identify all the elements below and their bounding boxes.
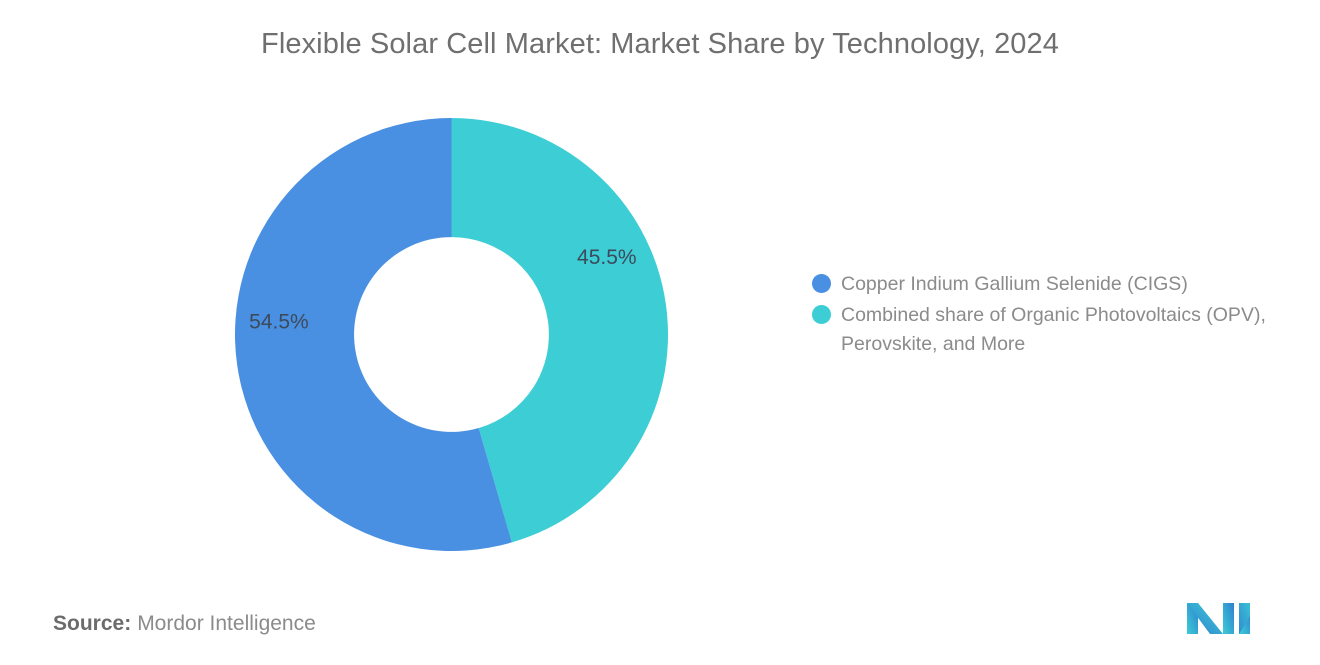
source-line: Source:Mordor Intelligence — [53, 612, 316, 636]
circle-swatch-icon — [812, 305, 831, 324]
donut-chart-svg: 54.5% 45.5% — [235, 118, 668, 551]
circle-swatch-icon — [812, 274, 831, 293]
slice-label-cigs: 54.5% — [249, 310, 309, 333]
page-title: Flexible Solar Cell Market: Market Share… — [0, 28, 1320, 61]
donut-chart: 54.5% 45.5% — [235, 118, 668, 551]
legend-item-opv-perovskite[interactable]: Combined share of Organic Photovoltaics … — [812, 301, 1282, 359]
source-label: Source: — [53, 612, 131, 635]
legend-item-label: Combined share of Organic Photovoltaics … — [841, 301, 1282, 359]
source-value: Mordor Intelligence — [137, 612, 316, 635]
legend-item-label: Copper Indium Gallium Selenide (CIGS) — [841, 270, 1188, 299]
slice-label-opv-perovskite: 45.5% — [577, 246, 637, 269]
legend-item-cigs[interactable]: Copper Indium Gallium Selenide (CIGS) — [812, 270, 1282, 299]
chart-legend: Copper Indium Gallium Selenide (CIGS) Co… — [812, 270, 1282, 361]
mordor-intelligence-mi-logo-icon — [1183, 594, 1257, 636]
